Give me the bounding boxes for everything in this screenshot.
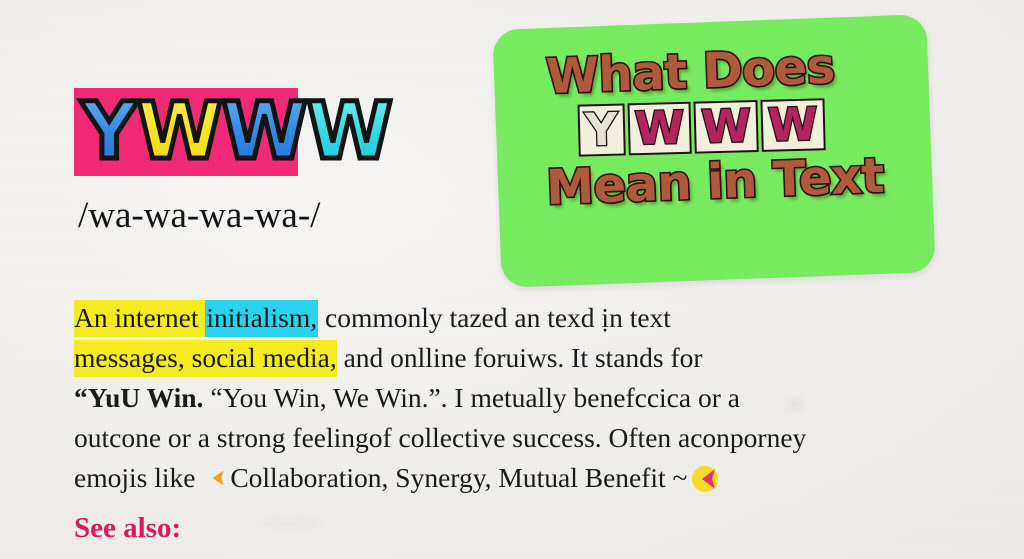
logo-letter-4: W: [307, 87, 392, 177]
paragraph-line-3: “YuU Win. “You Win, We Win.”. I metually…: [74, 378, 954, 418]
title-line-what-does: What Does: [545, 41, 908, 101]
line1-segment-c: commonly tazed an texd ịn text: [318, 302, 671, 333]
paragraph-line-4: outcone or a strong feelingof collective…: [74, 418, 954, 458]
title-tile-4: W: [760, 98, 825, 152]
paragraph-line-5: emojis like Collaboration, Synergy, Mutu…: [74, 458, 954, 498]
line1-segment-a: An internet: [74, 300, 205, 337]
line5-segment-b: Collaboration, Synergy, Mutual Benefit ~: [230, 462, 687, 493]
line2-segment-b: and onlline foruiws. It stands for: [337, 342, 703, 373]
line2-segment-a: messages, social media,: [74, 340, 337, 377]
title-tile-1: Y: [577, 103, 625, 156]
see-also-label: See also:: [74, 512, 181, 545]
title-ywww-tiles: YWWW: [577, 98, 825, 156]
title-card-content: What Does YWWW Mean in Text: [492, 14, 935, 288]
pronunciation-text: /wa-wa-wa-wa-/: [78, 194, 320, 237]
logo-letter-3: W: [222, 87, 307, 177]
artifact-smudge-2: [255, 518, 325, 528]
title-line-mean-in-text: Mean in Text: [545, 152, 912, 212]
line3-segment-bold: “YuU Win.: [74, 382, 210, 413]
logo-letter-1: Y: [81, 87, 136, 177]
line5-segment-a: emojis like: [74, 462, 202, 493]
title-card: What Does YWWW Mean in Text: [492, 14, 935, 288]
ywww-logo-block: YWWW: [74, 88, 392, 176]
definition-paragraph: An internet initialism, commonly tazed a…: [74, 298, 954, 498]
pink-arrow-badge-icon: [691, 464, 719, 492]
title-tile-2: W: [627, 102, 692, 156]
title-tile-3: W: [694, 100, 759, 154]
infographic-canvas: YWWW /wa-wa-wa-wa-/ What Does YWWW Mean …: [0, 0, 1024, 559]
logo-wordmark: YWWW: [74, 88, 392, 176]
logo-letter-2: W: [136, 87, 221, 177]
orange-arrow-icon: [205, 461, 227, 483]
paragraph-line-1: An internet initialism, commonly tazed a…: [74, 298, 954, 338]
line3-segment-b: “You Win, We Win.”. I metually benefccic…: [210, 382, 740, 413]
paragraph-line-2: messages, social media, and onlline foru…: [74, 338, 954, 378]
line1-segment-initialism: initialism,: [205, 300, 318, 337]
